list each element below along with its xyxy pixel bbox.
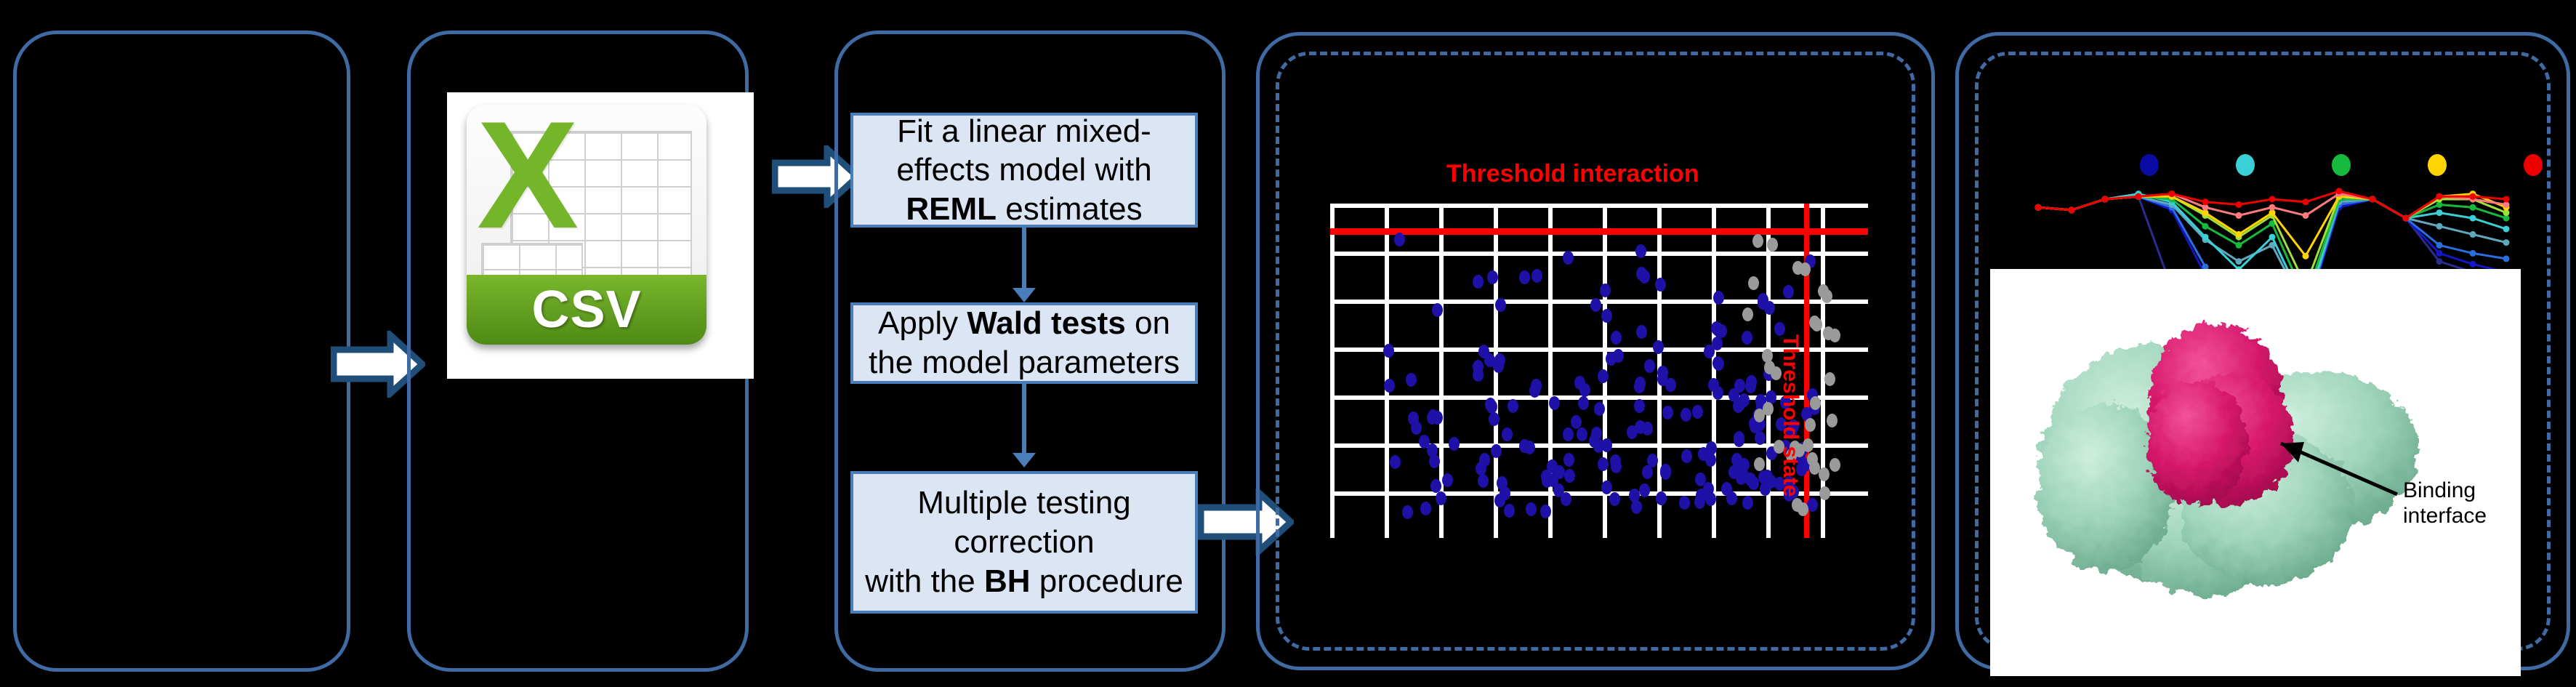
peptide-series-marker	[2236, 231, 2242, 238]
scatter-point	[1644, 359, 1655, 373]
peptide-legend-dot	[2428, 154, 2447, 176]
step3-line3-b: procedure	[1031, 563, 1183, 599]
peptide-series-marker	[2436, 250, 2443, 257]
scatter-point	[1591, 427, 1602, 441]
peptide-series-marker	[2470, 204, 2476, 211]
scatter-point	[1542, 474, 1553, 488]
step-bh-correction-box[interactable]: Multiple testing correction with the BH …	[850, 471, 1198, 614]
scatter-point-secondary	[1827, 414, 1838, 427]
scatter-point	[1783, 285, 1794, 299]
peptide-series-marker	[2269, 196, 2276, 203]
scatter-point	[1547, 459, 1558, 473]
scatter-point	[1420, 502, 1431, 515]
scatter-point-secondary	[1763, 402, 1774, 416]
scatter-point	[1442, 473, 1453, 487]
peptide-series-marker	[2269, 234, 2276, 241]
peptide-series-marker	[2436, 209, 2443, 216]
scatter-point	[1478, 474, 1489, 488]
scatter-point	[1742, 496, 1753, 510]
scatter-point	[1571, 415, 1582, 429]
scatter-point-secondary	[1810, 396, 1821, 410]
scatter-point	[1662, 406, 1673, 419]
scatter-point-secondary	[1824, 372, 1835, 386]
scatter-point	[1679, 496, 1690, 510]
scatter-point	[1657, 372, 1668, 386]
step3-line3: with the BH procedure	[862, 562, 1186, 601]
scatter-point	[1429, 454, 1440, 468]
protein-surface-render	[1990, 269, 2521, 676]
connector-step1-step2-arrowhead	[1013, 288, 1036, 302]
peptide-series-marker	[2470, 215, 2476, 222]
scatter-point	[1639, 483, 1650, 497]
csv-card: X CSV	[467, 105, 707, 345]
scatter-point	[1653, 340, 1664, 354]
peptide-series-marker	[2403, 215, 2410, 222]
scatter-point	[1609, 492, 1620, 506]
scatter-point	[1598, 369, 1609, 383]
step1-reml-emphasis: REML	[906, 191, 997, 227]
peptide-series-marker	[2370, 196, 2376, 203]
peptide-series-marker	[2069, 206, 2075, 213]
scatter-point	[1526, 502, 1537, 516]
scatter-point	[1578, 396, 1589, 410]
peptide-series-marker	[2436, 242, 2443, 249]
scatter-point	[1497, 476, 1508, 490]
scatter-point-secondary	[1818, 284, 1829, 298]
peptide-series-marker	[2470, 231, 2476, 238]
peptide-series-marker	[2236, 258, 2242, 265]
scatter-point-secondary	[1792, 261, 1803, 275]
scatter-point	[1489, 412, 1500, 426]
binding-interface-line1: Binding	[2403, 478, 2487, 504]
scatter-point	[1601, 481, 1612, 494]
step2-line1: Apply Wald tests on	[862, 304, 1186, 343]
scatter-point-secondary	[1830, 329, 1840, 342]
connector-step2-step3-arrowhead	[1013, 453, 1036, 467]
scatter-point-secondary	[1767, 238, 1778, 252]
peptide-series-marker	[2236, 242, 2242, 249]
peptide-series-marker	[2303, 198, 2309, 205]
scatter-point	[1762, 470, 1773, 483]
scatter-point	[1731, 453, 1742, 467]
scatter-point	[1601, 438, 1612, 452]
protein-structure-figure: Binding interface	[1990, 269, 2521, 676]
scatter-point-secondary	[1805, 418, 1816, 432]
binding-interface-line2: interface	[2403, 504, 2487, 529]
peptide-series-marker	[2035, 204, 2042, 211]
peptide-series-marker	[2436, 223, 2443, 230]
scatter-point	[1601, 309, 1612, 323]
peptide-series-marker	[2236, 212, 2242, 219]
scatter-point-secondary	[1830, 458, 1840, 472]
peptide-series-marker	[2470, 261, 2476, 268]
peptide-series-marker	[2303, 253, 2309, 260]
peptide-series-marker	[2236, 201, 2242, 208]
peptide-series-marker	[2136, 193, 2142, 200]
connector-step1-step2	[1022, 228, 1026, 288]
step2-line1-a: Apply	[878, 305, 967, 341]
peptide-series-marker	[2202, 223, 2209, 230]
scatter-point	[1549, 396, 1560, 410]
scatter-point	[1553, 483, 1564, 497]
scatter-point	[1642, 465, 1653, 479]
scatter-point	[1713, 291, 1724, 305]
excel-x-glyph: X	[477, 111, 579, 241]
step1-line3-rest: estimates	[997, 191, 1143, 227]
step1-line2: effects model with	[862, 150, 1186, 190]
scatter-point	[1655, 278, 1666, 292]
scatter-point	[1564, 469, 1575, 483]
scatter-point	[1432, 303, 1443, 317]
scatter-point	[1486, 400, 1497, 414]
scatter-point	[1531, 379, 1542, 393]
scatter-point	[1636, 267, 1647, 281]
binding-interface-label: Binding interface	[2403, 478, 2487, 529]
scatter-point	[1531, 269, 1542, 283]
scatter-point	[1502, 427, 1513, 441]
scatter-point	[1627, 425, 1638, 439]
threshold-state-label: Threshold state	[1778, 334, 1803, 497]
step3-line2: correction	[862, 523, 1186, 562]
scatter-point	[1402, 505, 1413, 519]
peptide-series-marker	[2336, 188, 2343, 194]
scatter-point	[1742, 331, 1752, 345]
peptide-series-marker	[2202, 234, 2209, 241]
scatter-point	[1716, 324, 1727, 338]
step3-line3-a: with the	[865, 563, 984, 599]
peptide-series-marker	[2503, 196, 2510, 203]
peptide-series-marker	[2436, 258, 2443, 265]
scatter-point	[1384, 379, 1395, 393]
data-source-panel	[13, 31, 350, 672]
scatter-point	[1598, 457, 1609, 471]
step2-line2: the model parameters	[862, 343, 1186, 382]
scatter-point	[1734, 431, 1744, 445]
step1-line1: Fit a linear mixed-	[862, 112, 1186, 151]
peptide-legend-dot	[2140, 154, 2159, 176]
scatter-point	[1563, 453, 1574, 467]
scatter-point	[1642, 422, 1653, 435]
scatter-point	[1745, 379, 1756, 393]
scatter-title: Threshold interaction	[1446, 160, 1699, 188]
scatter-point	[1563, 427, 1574, 441]
scatter-point	[1712, 356, 1723, 370]
threshold-interaction-line	[1330, 228, 1868, 235]
step-wald-tests-box[interactable]: Apply Wald tests on the model parameters	[850, 302, 1198, 384]
scatter-point	[1484, 353, 1495, 367]
csv-file-icon[interactable]: X CSV	[448, 93, 753, 378]
peptide-series-marker	[2470, 193, 2476, 200]
scatter-point	[1606, 352, 1617, 366]
peptide-series-marker	[2503, 239, 2510, 246]
peptide-series-marker	[2202, 198, 2209, 205]
scatter-point	[1430, 479, 1441, 493]
scatter-point	[1728, 465, 1739, 479]
peptide-legend-dot	[2332, 154, 2351, 176]
peptide-series-marker	[2169, 190, 2175, 197]
csv-label-bar: CSV	[467, 275, 707, 345]
peptide-series-marker	[2303, 212, 2309, 219]
step3-bh-emphasis: BH	[984, 563, 1031, 599]
peptide-series-marker	[2102, 196, 2109, 203]
step2-wald-emphasis: Wald tests	[967, 305, 1125, 341]
peptide-series-marker	[2503, 255, 2510, 262]
peptide-series-marker	[2503, 226, 2510, 233]
scatter-point	[1479, 453, 1490, 467]
connector-step2-step3	[1022, 384, 1026, 453]
scatter-point	[1681, 449, 1692, 463]
peptide-series-marker	[2269, 204, 2276, 211]
peptide-series-marker	[2436, 193, 2443, 200]
scatter-point	[1487, 270, 1498, 284]
step3-line1: Multiple testing	[862, 483, 1186, 523]
threshold-state-line	[1804, 204, 1809, 538]
scatter-point	[1694, 495, 1705, 509]
scatter-point	[1681, 408, 1691, 422]
scatter-point	[1636, 325, 1647, 339]
peptide-series-marker	[2470, 250, 2476, 257]
scatter-point	[1579, 383, 1590, 397]
scatter-point	[1739, 470, 1750, 483]
scatter-point	[1519, 439, 1530, 453]
scatter-point	[1660, 464, 1671, 478]
scatter-point	[1449, 437, 1460, 451]
scatter-point	[1436, 491, 1446, 505]
scatter-point	[1563, 251, 1574, 265]
threshold-interaction-plot: Threshold interaction Threshold state	[1308, 145, 1890, 553]
csv-label: CSV	[531, 280, 641, 340]
scatter-point	[1594, 402, 1605, 416]
scatter-point	[1706, 441, 1717, 455]
scatter-point	[1631, 500, 1642, 514]
scatter-point	[1491, 444, 1502, 458]
peptide-legend-dot	[2236, 154, 2255, 176]
peptide-legend-dot	[2524, 154, 2543, 176]
step1-line3: REML estimates	[862, 190, 1186, 229]
step2-line1-b: on	[1126, 305, 1170, 341]
scatter-point	[1656, 491, 1667, 505]
diagram-canvas: X CSV Fit a linear mixed- effects model …	[0, 0, 2576, 687]
step-fit-model-box[interactable]: Fit a linear mixed- effects model with R…	[850, 113, 1198, 228]
